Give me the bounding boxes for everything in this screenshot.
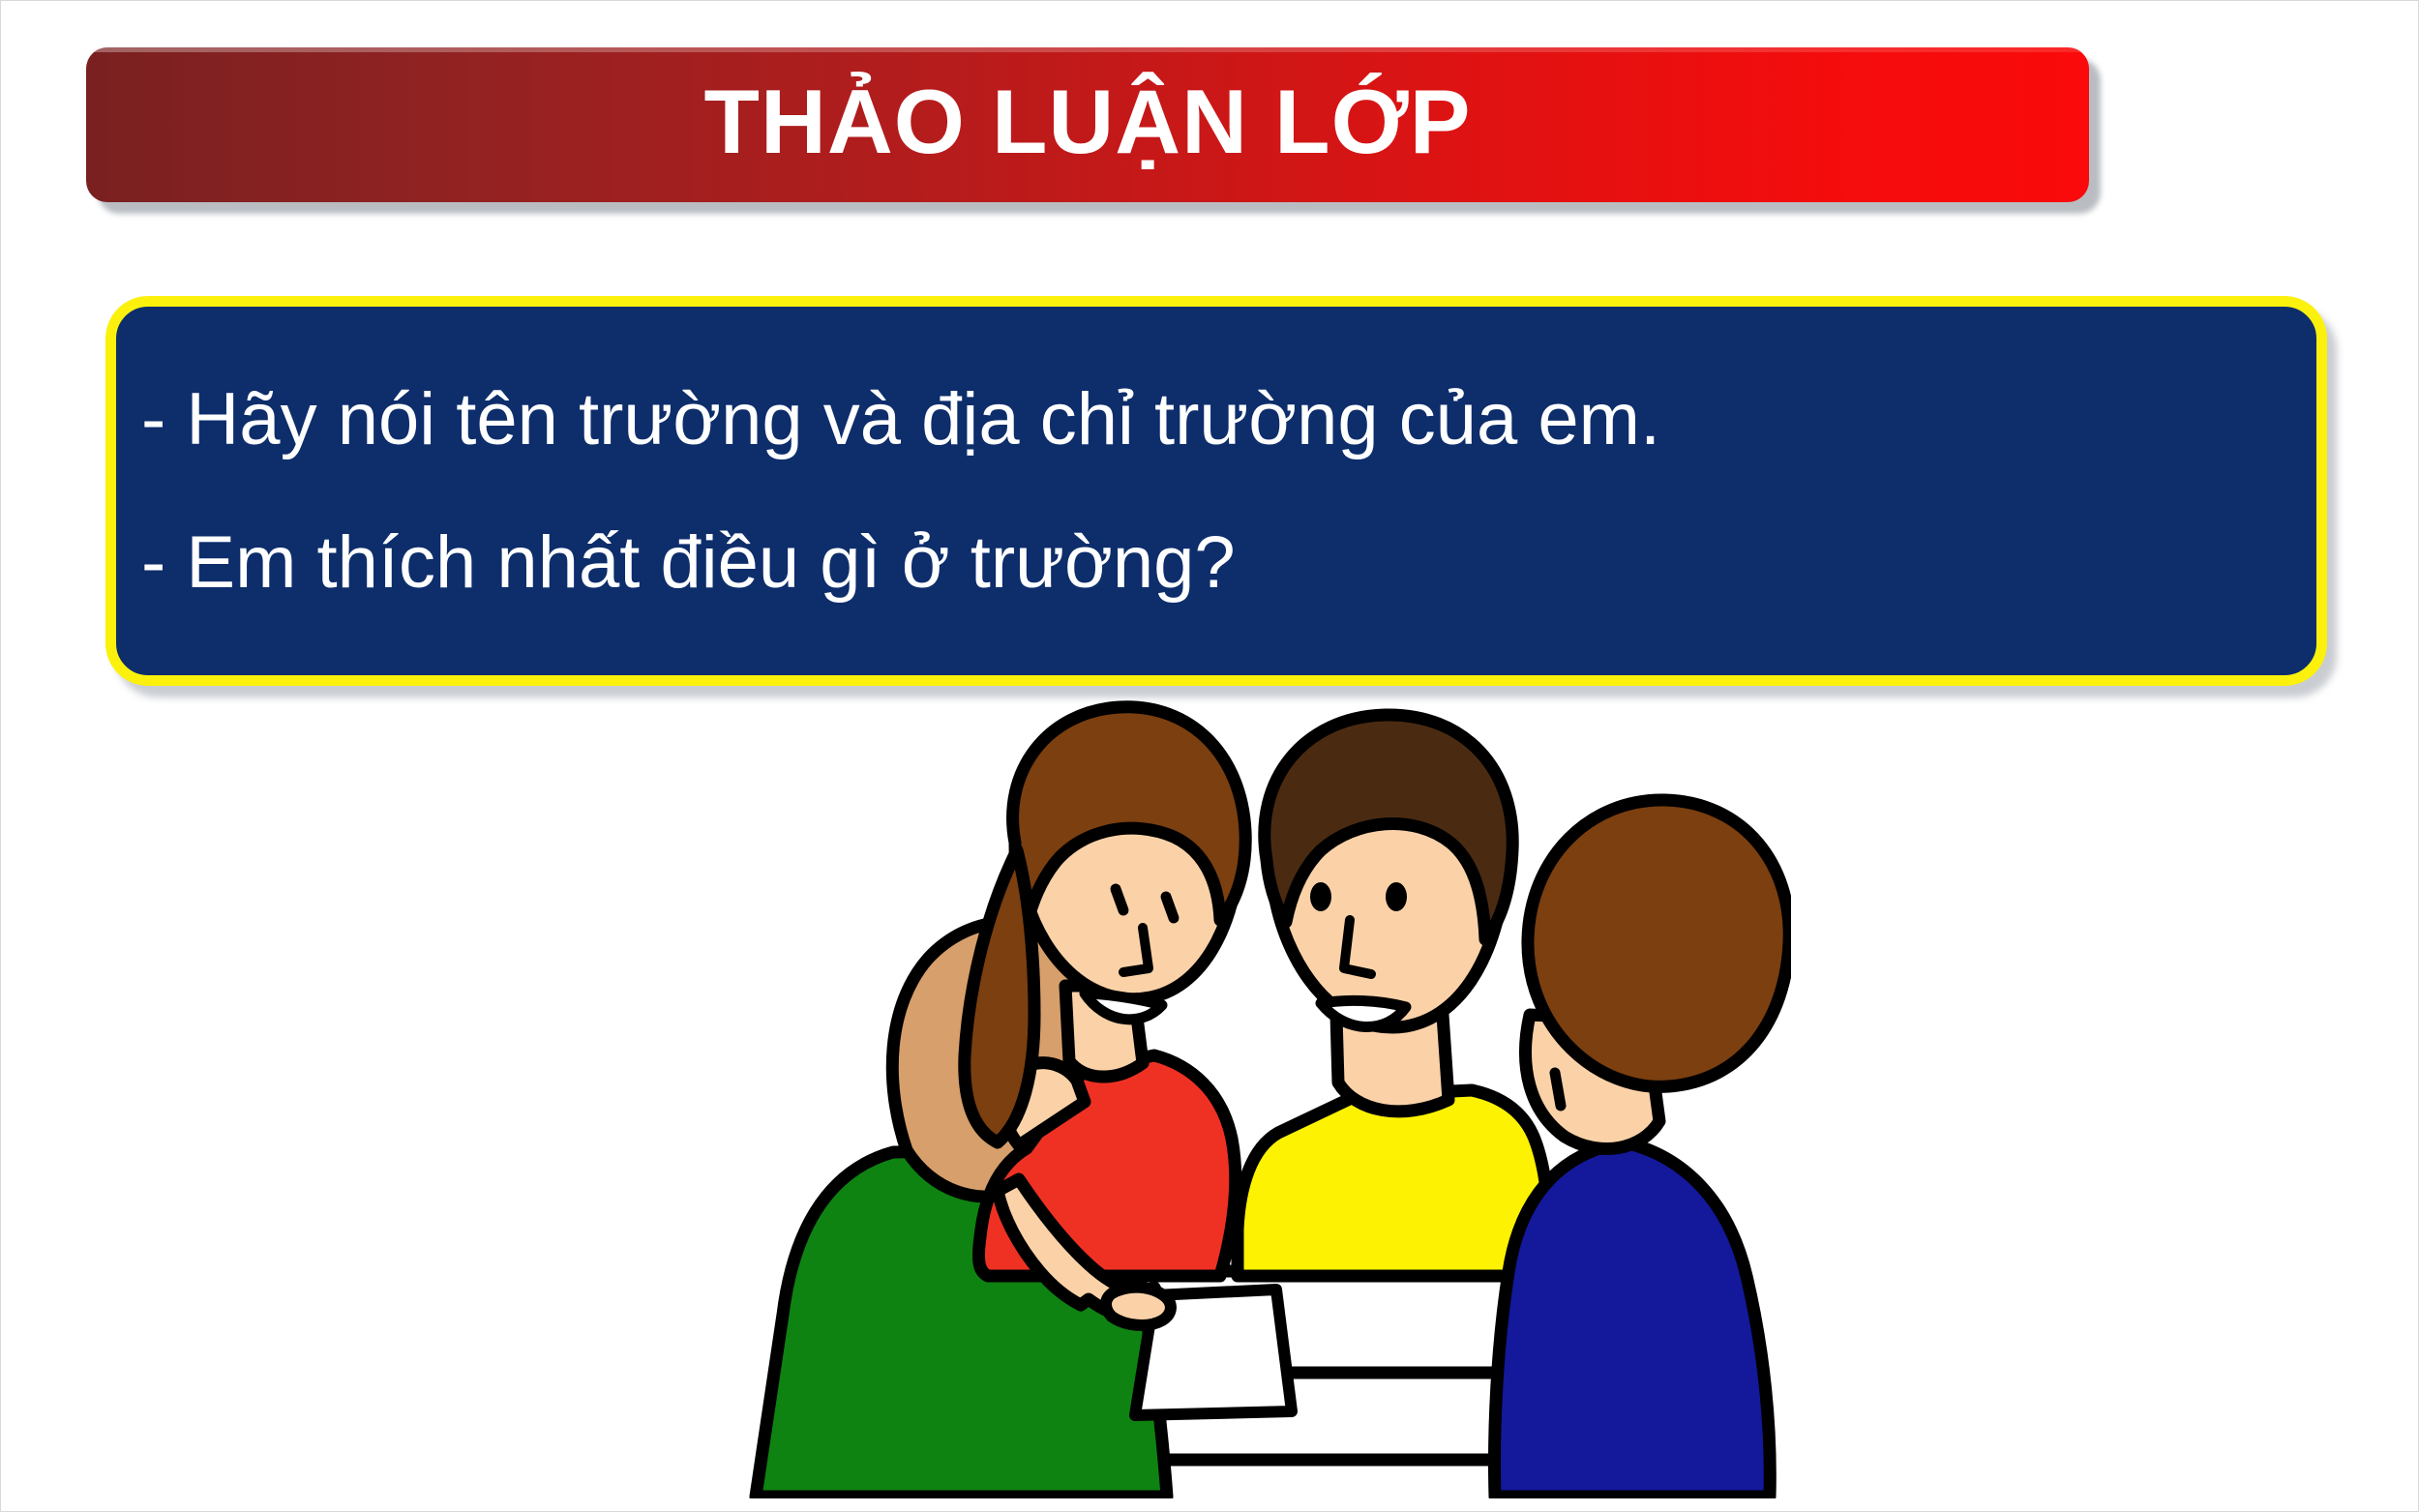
question-line-2: - Em thích nhất điều gì ở trường? xyxy=(141,526,2291,600)
question-line-1: - Hãy nói tên trường và địa chỉ trường c… xyxy=(141,383,2291,457)
title-banner-body: THẢO LUẬN LỚP xyxy=(86,47,2089,202)
slide-canvas: THẢO LUẬN LỚP - Hãy nói tên trường và đị… xyxy=(0,0,2419,1512)
title-banner: THẢO LUẬN LỚP xyxy=(86,47,2089,202)
page-title: THẢO LUẬN LỚP xyxy=(704,76,1472,173)
question-panel: - Hãy nói tên trường và địa chỉ trường c… xyxy=(105,296,2327,686)
students-discussing-illustration xyxy=(678,696,1791,1498)
students-discussing-icon xyxy=(678,696,1791,1498)
question-panel-body: - Hãy nói tên trường và địa chỉ trường c… xyxy=(105,296,2327,686)
